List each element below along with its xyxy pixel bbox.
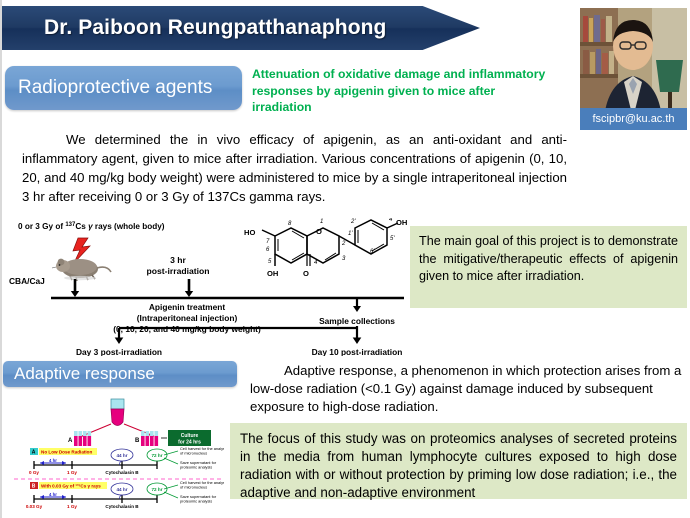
row1-harvest-line2: of micronucleus (180, 451, 207, 456)
atom-label-OH-5: OH (267, 269, 278, 278)
row1-dose-start: 0 Gy (29, 470, 39, 475)
ring-number-5: 5 (268, 259, 272, 265)
ring-number-2prime: 2' (350, 219, 356, 225)
email-badge: fscipbr@ku.ac.th (580, 108, 687, 130)
row2-dose-mid: 1 Gy (67, 504, 77, 509)
ring-number-7: 7 (266, 239, 270, 245)
group-a-label: A (68, 438, 73, 444)
row2-bubble-44h: 44 hr (117, 487, 128, 492)
group-a-tubes (74, 431, 91, 446)
mouse-illustration (52, 259, 111, 281)
row2-badge-marker: B (32, 484, 36, 490)
culture-label-line2: for 24 hrs (178, 440, 201, 446)
slide-canvas: Dr. Paiboon Reungpatthanaphong (0, 0, 690, 518)
slide-title-banner: Dr. Paiboon Reungpatthanaphong (2, 6, 480, 50)
section-tab-adaptive[interactable]: Adaptive response (3, 361, 237, 387)
row1-bubble-72h: 72 hr (152, 453, 163, 458)
row2-interval-label: 4 hr (49, 492, 57, 497)
section-tab-radioprotective-label: Radioprotective agents (5, 77, 212, 99)
ring-number-4: 4 (314, 260, 318, 266)
presenter-photo-image (580, 8, 687, 118)
atom-label-HO: HO (244, 228, 255, 237)
email-text: fscipbr@ku.ac.th (592, 113, 674, 125)
row1-supernatant-line2: proteomic analysis (180, 465, 212, 470)
section-tab-adaptive-label: Adaptive response (3, 364, 155, 384)
experimental-scheme-diagram: 0 or 3 Gy of 137Cs γ rays (whole body) C… (4, 218, 408, 356)
project-goal-callout: The main goal of this project is to demo… (410, 226, 687, 308)
page-title: Dr. Paiboon Reungpatthanaphong (2, 16, 387, 40)
scheme-day3-label: Day 3 post-irradiation (76, 347, 162, 356)
intro-paragraph: We determined the in vivo efficacy of ap… (22, 130, 567, 206)
row2-cytb-label: Cytochalasin B (105, 504, 139, 509)
ring-number-6: 6 (266, 247, 270, 253)
row2-dose-start: 0.03 Gy (26, 504, 43, 509)
adaptive-response-paragraph: Adaptive response, a phenomenon in which… (250, 362, 684, 416)
ring-number-2: 2 (341, 241, 346, 247)
group-b-tubes (141, 431, 158, 446)
row1-interval-label: 4 hr (49, 458, 57, 463)
scheme-treatment-line2: (Intraperitoneal injection) (137, 313, 238, 323)
row2-supernatant-line2: proteomic analysis (180, 499, 212, 504)
row1-badge-marker: A (32, 450, 36, 456)
scheme-treatment-line1: Apigenin treatment (149, 302, 226, 312)
study-focus-callout: The focus of this study was on proteomic… (230, 423, 687, 499)
ring-number-3prime: 3' (369, 218, 374, 220)
ring-number-1: 1 (320, 219, 323, 225)
ring-number-3: 3 (342, 256, 346, 262)
atom-label-carbonyl-O: O (303, 269, 309, 278)
presenter-photo (580, 8, 687, 118)
ring-number-5prime: 5' (390, 236, 395, 242)
apigenin-structure (262, 220, 398, 266)
row1-cytb-label: Cytochalasin B (105, 470, 139, 475)
culture-label-line1: Culture (181, 433, 199, 439)
scheme-day10-label: Day 10 post-irradiation (312, 347, 403, 356)
scheme-timepoint-line1: 3 hr (170, 255, 186, 265)
row1-bubble-44h: 44 hr (117, 453, 128, 458)
atom-label-ring-O: O (316, 227, 322, 236)
scheme-strain-label: CBA/CaJ (9, 276, 45, 286)
row1-dose-mid: 1 Gy (67, 470, 77, 475)
row2-badge-text: With 0.03 Gy of ¹³⁷Cs γ rays (41, 484, 101, 489)
ring-number-8: 8 (288, 221, 292, 227)
adaptive-response-figure: A B Culture for 24 hrs A (12, 398, 224, 513)
ring-number-4prime: 4' (389, 218, 394, 223)
ring-number-1prime: 1' (348, 231, 353, 237)
blood-tube-icon (111, 399, 124, 426)
row2-bubble-72h: 72 hr (152, 487, 163, 492)
row1-badge-text: No Low Dose Radiation (41, 450, 92, 455)
group-b-label: B (135, 438, 140, 444)
atom-label-OH-4prime: OH (396, 218, 407, 227)
study-title-heading: Attenuation of oxidative damage and infl… (252, 66, 552, 116)
scheme-sample-label: Sample collections (319, 316, 395, 326)
scheme-irradiation-label: 0 or 3 Gy of 137Cs γ rays (whole body) (18, 222, 165, 231)
section-tab-radioprotective[interactable]: Radioprotective agents (5, 66, 242, 110)
scheme-timepoint-line2: post-irradiation (146, 266, 209, 276)
row2-harvest-line2: of micronucleus (180, 485, 207, 490)
